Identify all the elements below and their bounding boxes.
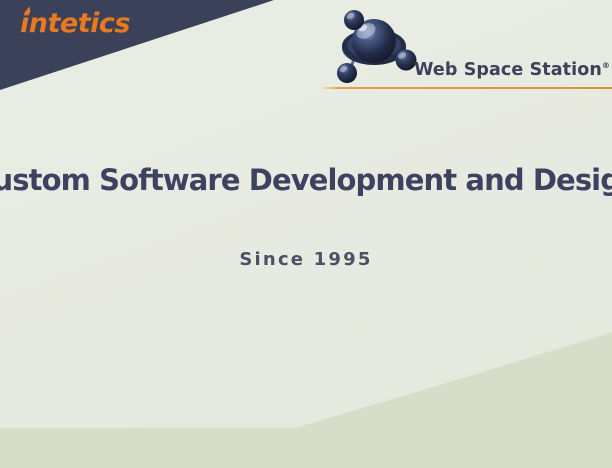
slide-subtitle: Since 1995 (0, 249, 612, 270)
registered-trademark-symbol: ® (602, 61, 610, 70)
intetics-logo: intetics (20, 10, 130, 37)
brand-name-text: Web Space Station (414, 60, 602, 80)
brand-divider-rule (322, 87, 612, 89)
page-title: Custom Software Development and Design (0, 166, 612, 195)
slide-title-row: Custom Software Development and Design (0, 160, 612, 200)
title-slide: intetics (0, 0, 612, 468)
web-space-station-brand: Web Space Station® (322, 2, 612, 94)
space-station-sphere-icon (330, 6, 424, 88)
web-space-station-wordmark: Web Space Station® (414, 60, 610, 80)
